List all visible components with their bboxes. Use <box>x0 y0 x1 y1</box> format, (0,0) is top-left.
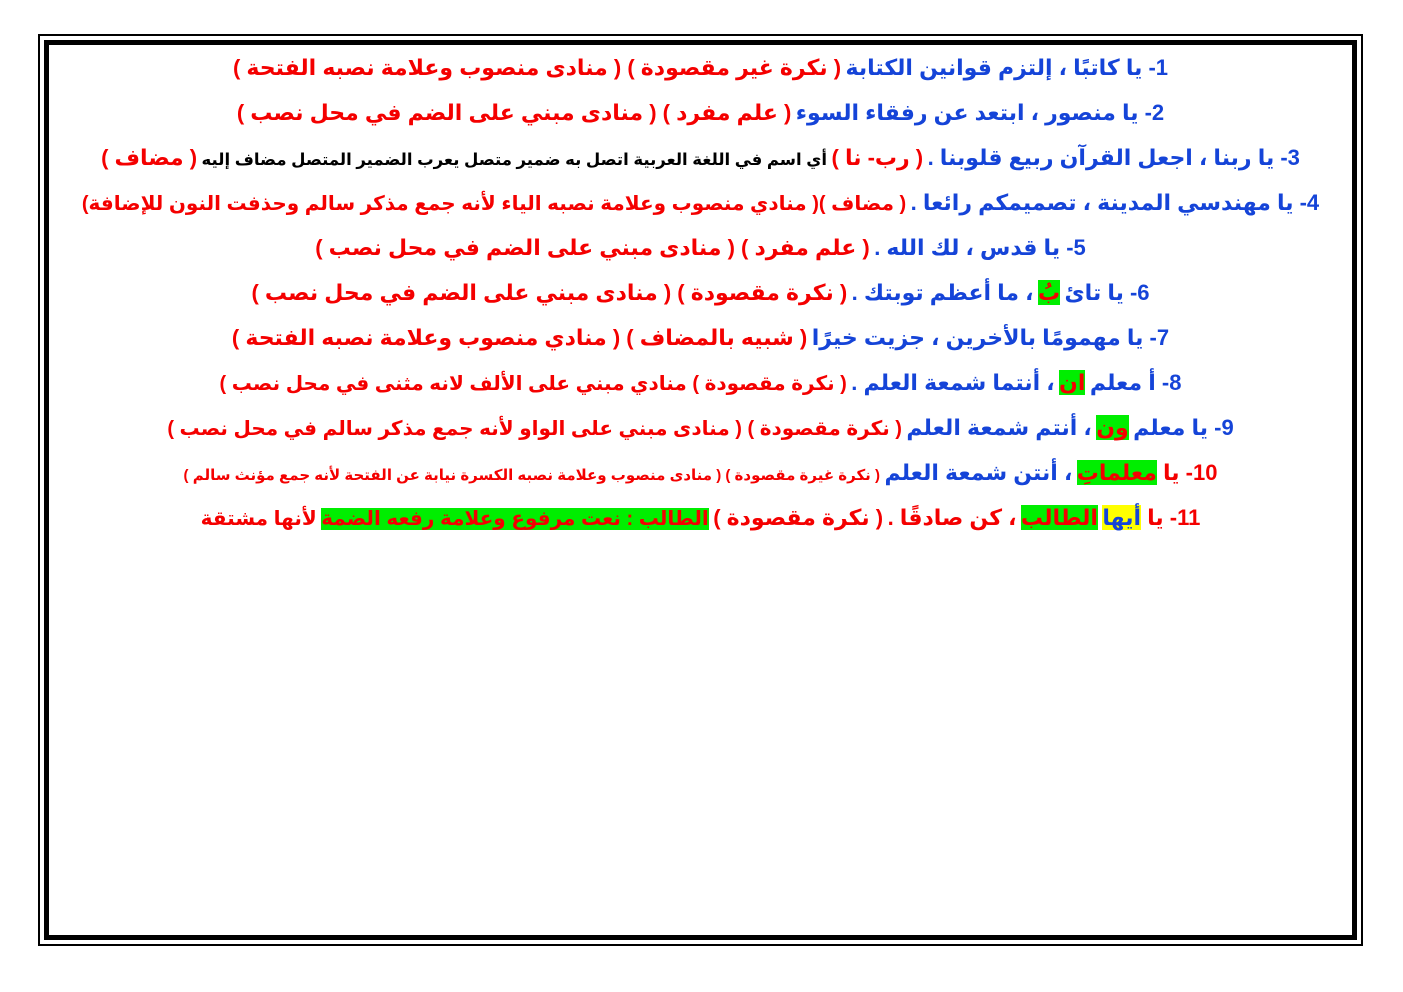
page-border-inner: 1- يا كاتبًا ، إلتزم قوانين الكتابة ( نك… <box>44 40 1357 940</box>
line-segment: الطالب : نعت مرفوع وعلامة رفعه الضمة <box>321 508 709 530</box>
exercise-line: 4- يا مهندسي المدينة ، تصميمكم رائعا . (… <box>67 192 1334 214</box>
line-segment: ( نكرة مقصودة ) <box>713 505 883 530</box>
line-segment: 9- يا معلم <box>1133 415 1234 440</box>
line-segment: ، أنتن شمعة العلم <box>884 460 1072 485</box>
line-segment: ان <box>1059 370 1085 395</box>
line-segment: 4- يا مهندسي المدينة ، تصميمكم رائعا . <box>911 190 1320 215</box>
exercise-line: 8- أ معلم ان ، أنتما شمعة العلم . ( نكرة… <box>67 372 1334 394</box>
line-segment: ( نكرة مقصودة ) ( منادى مبني على الواو ل… <box>167 418 902 440</box>
exercise-line: 2- يا منصور ، ابتعد عن رفقاء السوء ( علم… <box>67 102 1334 124</box>
line-segment: 3- يا ربنا ، اجعل القرآن ربيع قلوبنا . <box>928 145 1300 170</box>
line-segment: 5- يا قدس ، لك الله . <box>874 235 1086 260</box>
line-segment: ( رب- نا ) <box>832 145 924 170</box>
exercise-line: 10- يا معلماتِ ، أنتن شمعة العلم ( نكرة … <box>67 462 1334 484</box>
exercise-line: 11- يا أيها الطالب ، كن صادقًا . ( نكرة … <box>67 507 1334 529</box>
line-segment: ( مضاف ) <box>101 145 197 170</box>
line-segment: 1- يا كاتبًا ، إلتزم قوانين الكتابة <box>846 57 1169 80</box>
line-segment: معلماتِ <box>1077 460 1157 485</box>
line-segment: الطالب <box>1021 505 1098 530</box>
line-segment: بُ <box>1038 280 1060 305</box>
exercise-line: 6- يا تائ بُ ، ما أعظم توبتك . ( نكرة مق… <box>67 282 1334 304</box>
line-segment: لأنها مشتقة <box>201 508 317 530</box>
line-segment: ( نكرة غير مقصودة ) ( منادى منصوب وعلامة… <box>233 57 841 80</box>
line-segment: أي اسم في اللغة العربية اتصل به ضمير متص… <box>202 151 828 169</box>
line-segment: ون <box>1096 415 1128 440</box>
line-segment: 7- يا مهمومًا بالأخرين ، جزيت خيرًا <box>812 325 1169 350</box>
line-segment: ( مضاف )( منادي منصوب وعلامة نصبه الياء … <box>82 193 906 215</box>
exercise-line: 3- يا ربنا ، اجعل القرآن ربيع قلوبنا . (… <box>67 147 1334 169</box>
line-segment: 2- يا منصور ، ابتعد عن رفقاء السوء <box>796 100 1164 125</box>
exercise-list: 1- يا كاتبًا ، إلتزم قوانين الكتابة ( نك… <box>67 57 1334 923</box>
line-segment: 10- يا <box>1157 460 1218 485</box>
line-segment: أيها <box>1102 505 1141 530</box>
line-segment: ( نكرة مقصودة ) ( منادى مبني على الضم في… <box>251 280 847 305</box>
line-segment: 6- يا تائ <box>1065 280 1150 305</box>
line-segment: 11- يا <box>1141 505 1200 530</box>
line-segment: ( نكرة غيرة مقصودة ) ( منادى منصوب وعلام… <box>184 467 880 484</box>
exercise-line: 7- يا مهمومًا بالأخرين ، جزيت خيرًا ( شب… <box>67 327 1334 349</box>
line-segment: ( علم مفرد ) ( منادى مبني على الضم في مح… <box>237 100 792 125</box>
line-segment: ، أنتما شمعة العلم . <box>851 370 1054 395</box>
page-border-outer: 1- يا كاتبًا ، إلتزم قوانين الكتابة ( نك… <box>38 34 1363 946</box>
exercise-line: 5- يا قدس ، لك الله . ( علم مفرد ) ( منا… <box>67 237 1334 259</box>
exercise-line: 1- يا كاتبًا ، إلتزم قوانين الكتابة ( نك… <box>67 57 1334 79</box>
line-segment: 8- أ معلم <box>1090 370 1182 395</box>
line-segment: ، أنتم شمعة العلم <box>906 415 1091 440</box>
line-segment: ( علم مفرد ) ( منادى مبني على الضم في مح… <box>315 235 870 260</box>
document-page: 1- يا كاتبًا ، إلتزم قوانين الكتابة ( نك… <box>0 0 1403 992</box>
exercise-line: 9- يا معلم ون ، أنتم شمعة العلم ( نكرة م… <box>67 417 1334 439</box>
line-segment: ( شبيه بالمضاف ) ( منادي منصوب وعلامة نص… <box>232 325 807 350</box>
line-segment: ، كن صادقًا . <box>888 505 1017 530</box>
line-segment: ( نكرة مقصودة ) منادي مبني على الألف لان… <box>220 373 847 395</box>
line-segment: ، ما أعظم توبتك . <box>852 280 1034 305</box>
